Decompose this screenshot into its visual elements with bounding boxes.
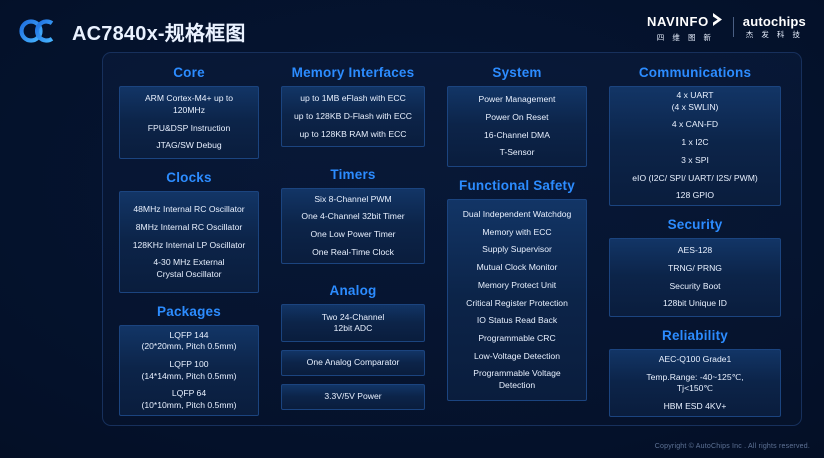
- list-item: 128KHz Internal LP Oscillator: [125, 236, 253, 254]
- copyright-text: Copyright © AutoChips Inc . All rights r…: [655, 443, 810, 450]
- list-item: ARM Cortex-M4+ up to 120MHz: [125, 90, 253, 119]
- list-item: 4 x UART (4 x SWLIN): [615, 87, 775, 116]
- list-item: LQFP 64 (10*10mm, Pitch 0.5mm): [125, 385, 253, 414]
- section-title-communications: Communications: [609, 65, 781, 80]
- brand-navinfo-en: NAVINFO: [647, 15, 709, 28]
- list-item: 4 x CAN-FD: [615, 116, 775, 134]
- section-title-security: Security: [609, 217, 781, 232]
- list-item: FPU&DSP Instruction: [125, 119, 253, 137]
- list-item: T-Sensor: [453, 144, 581, 162]
- section-box-packages: LQFP 144 (20*20mm, Pitch 0.5mm) LQFP 100…: [119, 325, 259, 416]
- list-item: Low-Voltage Detection: [453, 347, 581, 365]
- column-communications: Communications 4 x UART (4 x SWLIN) 4 x …: [609, 53, 781, 417]
- list-item: LQFP 144 (20*20mm, Pitch 0.5mm): [125, 327, 253, 356]
- list-item: Programmable Voltage Detection: [453, 365, 581, 394]
- list-item: One Analog Comparator: [287, 354, 419, 372]
- list-item: up to 1MB eFlash with ECC: [287, 90, 419, 108]
- list-item: Two 24-Channel 12bit ADC: [287, 308, 419, 337]
- list-item: LQFP 100 (14*14mm, Pitch 0.5mm): [125, 356, 253, 385]
- list-item: 128bit Unique ID: [615, 295, 775, 313]
- list-item: One 4-Channel 32bit Timer: [287, 208, 419, 226]
- list-item: Programmable CRC: [453, 330, 581, 348]
- list-item: Power On Reset: [453, 109, 581, 127]
- brand-logos: NAVINFO 四 维 图 新 autochips 杰 发 科 技: [647, 12, 806, 42]
- brand-navinfo: NAVINFO 四 维 图 新: [647, 12, 724, 42]
- list-item: Security Boot: [615, 278, 775, 296]
- column-core: Core ARM Cortex-M4+ up to 120MHz FPU&DSP…: [119, 53, 259, 416]
- list-item: Six 8-Channel PWM: [287, 191, 419, 209]
- list-item: AES-128: [615, 242, 775, 260]
- section-title-clocks: Clocks: [119, 170, 259, 185]
- brand-navinfo-cn: 四 维 图 新: [657, 34, 714, 42]
- section-box-memory-interfaces: up to 1MB eFlash with ECC up to 128KB D-…: [281, 86, 425, 147]
- list-item: 8MHz Internal RC Oscillator: [125, 219, 253, 237]
- section-box-analog-power: 3.3V/5V Power: [281, 384, 425, 410]
- slide-root: AC7840x-规格框图 NAVINFO 四 维 图 新 autochips 杰…: [0, 0, 824, 458]
- list-item: One Real-Time Clock: [287, 244, 419, 262]
- brand-autochips-cn: 杰 发 科 技: [746, 31, 803, 39]
- list-item: up to 128KB RAM with ECC: [287, 125, 419, 143]
- column-system: System Power Management Power On Reset 1…: [447, 53, 587, 401]
- brand-divider: [733, 17, 734, 37]
- list-item: 3 x SPI: [615, 152, 775, 170]
- list-item: Mutual Clock Monitor: [453, 259, 581, 277]
- list-item: Temp.Range: -40~125℃, Tj<150℃: [615, 368, 775, 397]
- list-item: IO Status Read Back: [453, 312, 581, 330]
- list-item: Memory Protect Unit: [453, 277, 581, 295]
- list-item: One Low Power Timer: [287, 226, 419, 244]
- page-title: AC7840x-规格框图: [72, 17, 246, 46]
- list-item: Power Management: [453, 91, 581, 109]
- section-box-core: ARM Cortex-M4+ up to 120MHz FPU&DSP Inst…: [119, 86, 259, 159]
- list-item: 16-Channel DMA: [453, 127, 581, 145]
- list-item: 48MHz Internal RC Oscillator: [125, 201, 253, 219]
- section-box-functional-safety: Dual Independent Watchdog Memory with EC…: [447, 199, 587, 401]
- column-memory: Memory Interfaces up to 1MB eFlash with …: [281, 53, 425, 410]
- section-title-packages: Packages: [119, 304, 259, 319]
- section-title-system: System: [447, 65, 587, 80]
- list-item: up to 128KB D-Flash with ECC: [287, 108, 419, 126]
- section-box-analog-comparator: One Analog Comparator: [281, 350, 425, 376]
- section-box-reliability: AEC-Q100 Grade1 Temp.Range: -40~125℃, Tj…: [609, 349, 781, 417]
- brand-autochips-en: autochips: [743, 15, 806, 28]
- list-item: Critical Register Protection: [453, 294, 581, 312]
- list-item: AEC-Q100 Grade1: [615, 351, 775, 369]
- brand-autochips: autochips 杰 发 科 技: [743, 15, 806, 39]
- section-box-timers: Six 8-Channel PWM One 4-Channel 32bit Ti…: [281, 188, 425, 264]
- section-title-reliability: Reliability: [609, 328, 781, 343]
- section-box-communications: 4 x UART (4 x SWLIN) 4 x CAN-FD 1 x I2C …: [609, 86, 781, 206]
- section-box-system: Power Management Power On Reset 16-Chann…: [447, 86, 587, 167]
- list-item: Dual Independent Watchdog: [453, 206, 581, 224]
- list-item: eIO (I2C/ SPI/ UART/ I2S/ PWM): [615, 169, 775, 187]
- oc-logo-icon: [18, 18, 66, 44]
- list-item: 1 x I2C: [615, 134, 775, 152]
- spec-diagram-panel: Core ARM Cortex-M4+ up to 120MHz FPU&DSP…: [102, 52, 802, 426]
- section-title-memory-interfaces: Memory Interfaces: [281, 65, 425, 80]
- list-item: 4-30 MHz External Crystal Oscillator: [125, 254, 253, 283]
- section-box-analog-adc: Two 24-Channel 12bit ADC: [281, 304, 425, 342]
- list-item: Supply Supervisor: [453, 241, 581, 259]
- section-title-analog: Analog: [281, 283, 425, 298]
- section-box-clocks: 48MHz Internal RC Oscillator 8MHz Intern…: [119, 191, 259, 293]
- section-box-security: AES-128 TRNG/ PRNG Security Boot 128bit …: [609, 238, 781, 317]
- list-item: 3.3V/5V Power: [287, 388, 419, 406]
- list-item: HBM ESD 4KV+: [615, 398, 775, 416]
- chevron-right-icon: [711, 12, 724, 31]
- header: AC7840x-规格框图 NAVINFO 四 维 图 新 autochips 杰…: [0, 0, 824, 54]
- list-item: JTAG/SW Debug: [125, 137, 253, 155]
- list-item: 128 GPIO: [615, 187, 775, 205]
- list-item: TRNG/ PRNG: [615, 260, 775, 278]
- list-item: Memory with ECC: [453, 223, 581, 241]
- section-title-timers: Timers: [281, 167, 425, 182]
- section-title-core: Core: [119, 65, 259, 80]
- section-title-functional-safety: Functional Safety: [447, 178, 587, 193]
